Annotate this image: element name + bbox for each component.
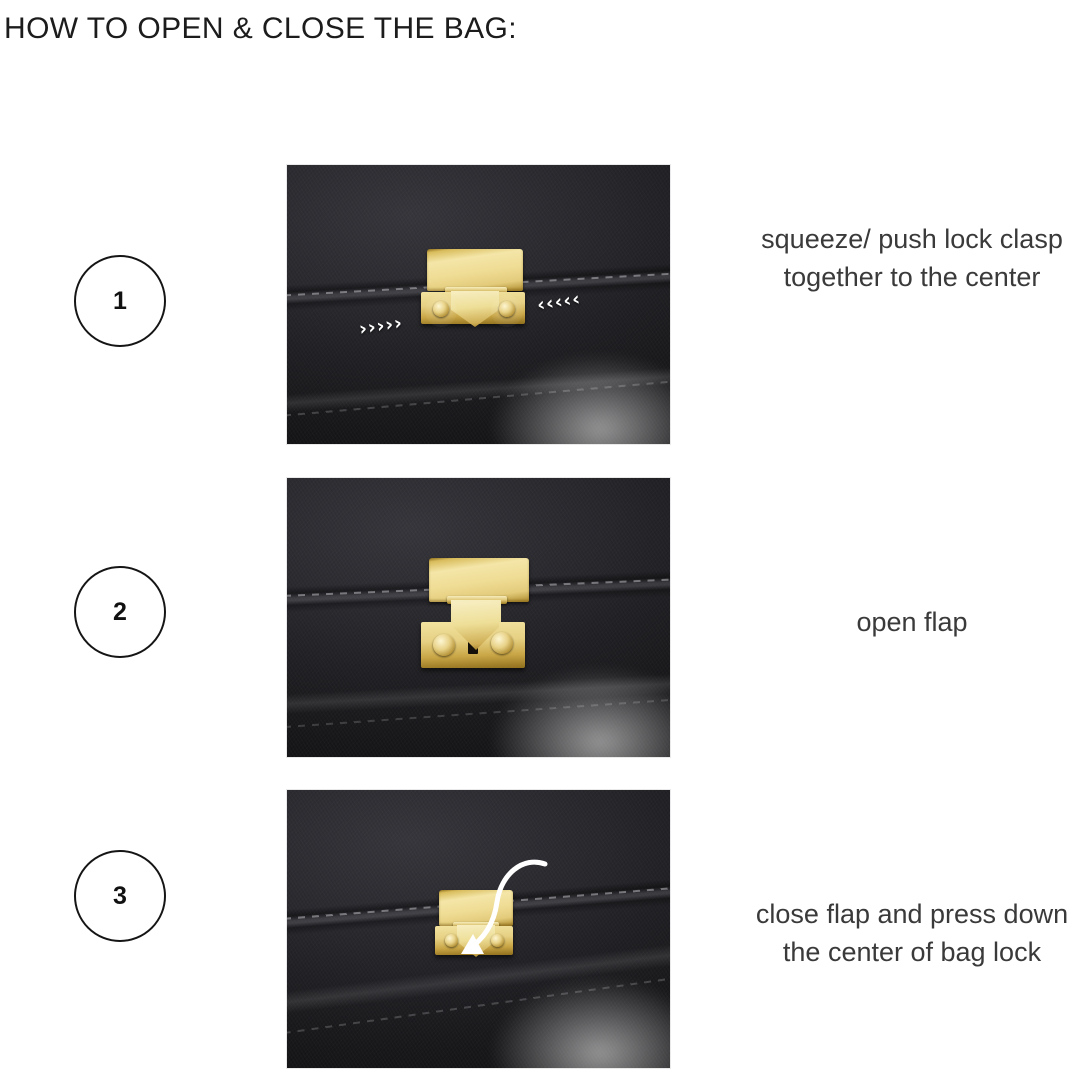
step-row: 2 open flap [0, 478, 1080, 758]
step-number-badge: 1 [74, 255, 166, 347]
press-down-arrow-icon [427, 850, 557, 980]
photo-corner-glow [490, 978, 670, 1068]
step-number-label: 3 [113, 882, 127, 911]
step-number-label: 1 [113, 287, 127, 316]
step-photo [287, 790, 670, 1068]
step-number-badge: 3 [74, 850, 166, 942]
photo-corner-glow [490, 354, 670, 444]
step-number-badge: 2 [74, 566, 166, 658]
step-caption: open flap [744, 603, 1080, 641]
step-number-label: 2 [113, 598, 127, 627]
step-row: 1 ››››› ‹‹‹‹‹ squeeze/ push lock clasp t… [0, 165, 1080, 445]
screw-left [433, 301, 449, 317]
screw-left [433, 634, 455, 656]
gold-lock-icon [419, 249, 529, 327]
lock-top-plate [427, 249, 523, 291]
step-row: 3 close flap and press down the center o… [0, 790, 1080, 1068]
gold-lock-icon [421, 558, 533, 672]
step-photo [287, 478, 670, 757]
step-caption: close flap and press down the center of … [744, 895, 1080, 972]
screw-right [491, 632, 513, 654]
step-caption: squeeze/ push lock clasp together to the… [744, 220, 1080, 297]
screw-right [499, 301, 515, 317]
page-title: HOW TO OPEN & CLOSE THE BAG: [4, 12, 517, 46]
step-photo: ››››› ‹‹‹‹‹ [287, 165, 670, 444]
photo-corner-glow [490, 667, 670, 757]
